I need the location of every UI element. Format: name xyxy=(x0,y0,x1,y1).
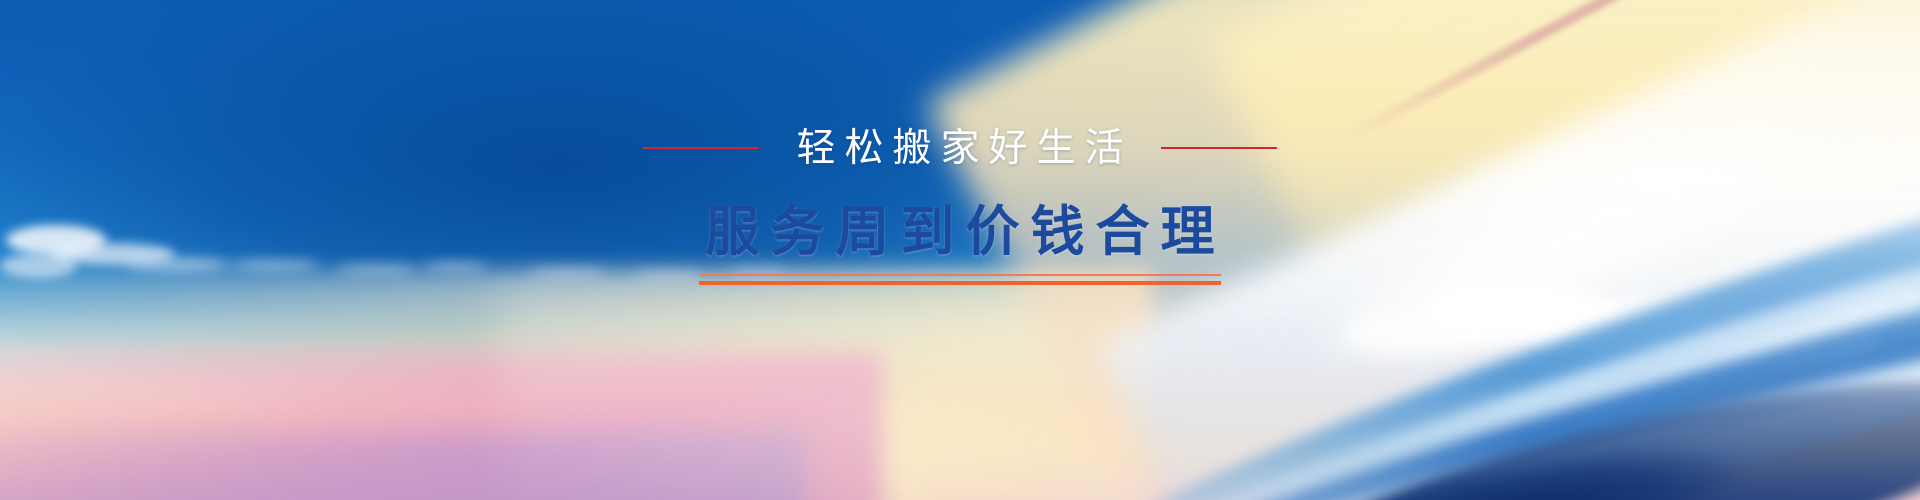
subtitle-rule-left xyxy=(643,147,759,149)
cloudlet-icon xyxy=(125,258,231,271)
cloudlet-icon xyxy=(422,262,487,271)
subtitle-row: 轻松搬家好生活 xyxy=(643,118,1276,178)
cloudlet-icon xyxy=(336,265,417,274)
headline-underline-thick xyxy=(699,281,1221,285)
cloudlet-icon xyxy=(528,268,605,277)
subtitle-rule-right xyxy=(1161,147,1277,149)
headline-underline-thin xyxy=(699,274,1221,276)
cloud-puff-icon xyxy=(1344,310,1498,355)
cloudlet-icon xyxy=(0,253,77,278)
cloudlet-icon xyxy=(634,271,703,279)
headline-underline-group xyxy=(699,274,1221,285)
cloudlet-icon xyxy=(230,260,318,270)
headline-block: 服务周到价钱合理 xyxy=(695,204,1226,285)
banner-subtitle: 轻松搬家好生活 xyxy=(787,129,1132,168)
promo-banner: 轻松搬家好生活 服务周到价钱合理 xyxy=(0,0,1920,500)
banner-headline: 服务周到价钱合理 xyxy=(695,204,1226,260)
